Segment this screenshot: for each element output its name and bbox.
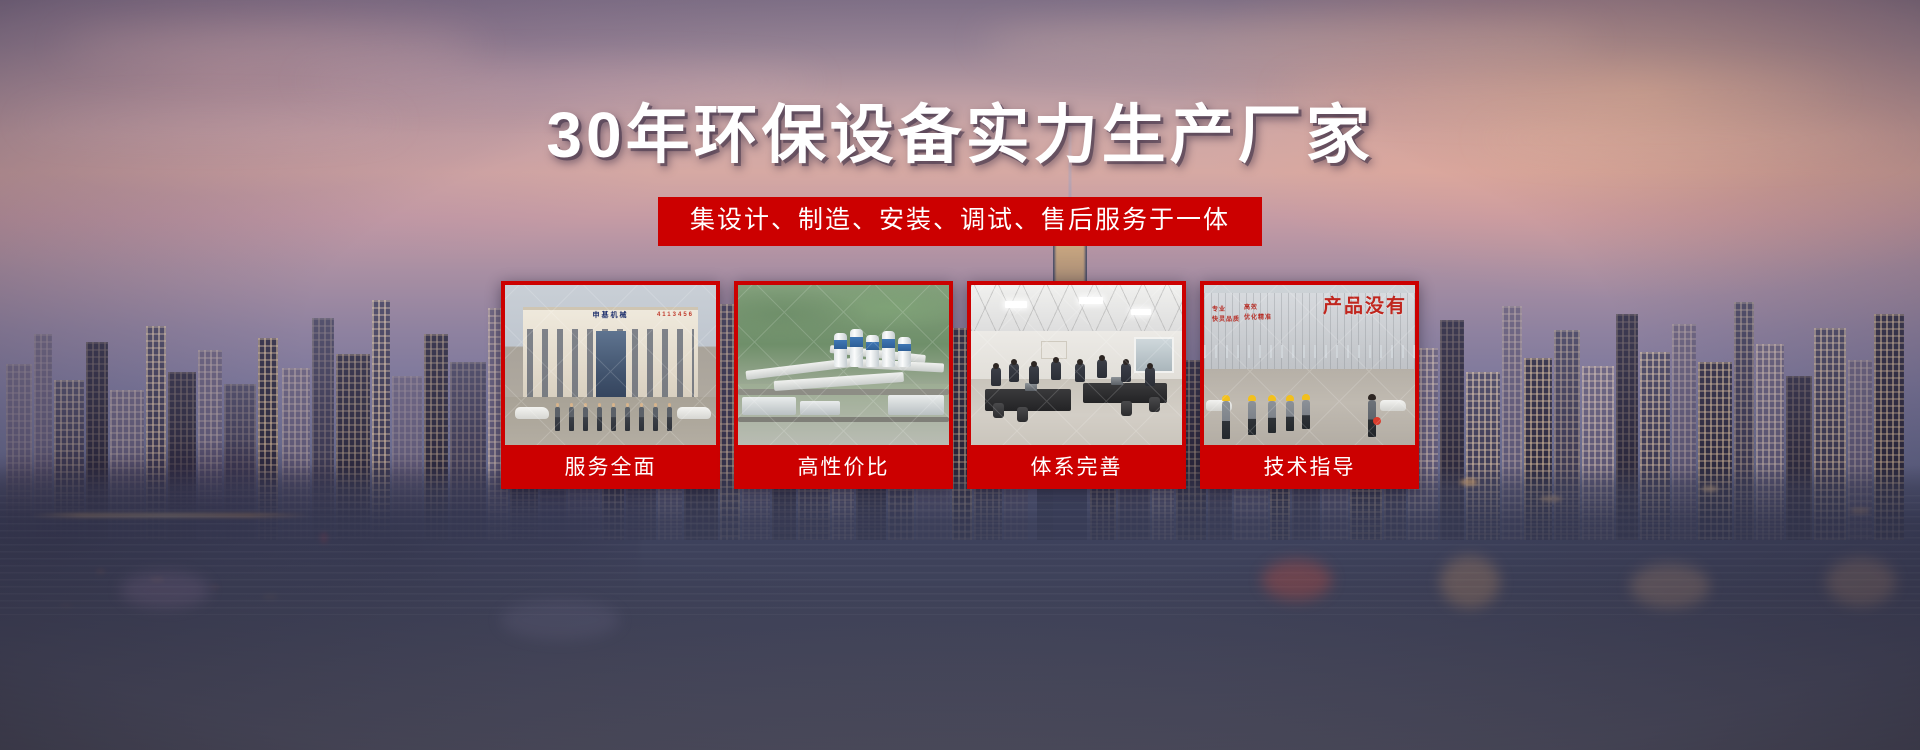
feature-card-guidance[interactable]: 产品没有 专业 快灵品质 高效 优化精准 [1200,281,1419,489]
feature-card-label-text: 高性价比 [798,457,890,478]
banner-subtitle-bar: 集设计、制造、安装、调试、售后服务于一体 [658,197,1262,246]
feature-card-photo-factory-yard: 产品没有 专业 快灵品质 高效 优化精准 [1204,285,1415,445]
feature-card-photo-office-meeting [971,285,1182,445]
banner-content: 30年环保设备实力生产厂家 集设计、制造、安装、调试、售后服务于一体 申基机械 … [0,0,1920,750]
banner-headline: 30年环保设备实力生产厂家 [546,103,1373,167]
feature-card-photo-office-building: 申基机械 4113456 [505,285,716,445]
feature-card-label-text: 技术指导 [1264,457,1356,478]
banner-subtitle-text: 集设计、制造、安装、调试、售后服务于一体 [690,208,1230,233]
feature-card-list: 申基机械 4113456 [501,281,1419,489]
hero-banner: 30年环保设备实力生产厂家 集设计、制造、安装、调试、售后服务于一体 申基机械 … [0,0,1920,750]
feature-card-value[interactable]: 高性价比 [734,281,953,489]
feature-card-label-system: 体系完善 [971,445,1182,489]
feature-card-label-value: 高性价比 [738,445,949,489]
feature-card-photo-plant-aerial [738,285,949,445]
feature-card-label-service: 服务全面 [505,445,716,489]
feature-card-system[interactable]: 体系完善 [967,281,1186,489]
feature-card-service[interactable]: 申基机械 4113456 [501,281,720,489]
feature-card-label-guidance: 技术指导 [1204,445,1415,489]
feature-card-label-text: 服务全面 [565,457,657,478]
feature-card-label-text: 体系完善 [1031,457,1123,478]
